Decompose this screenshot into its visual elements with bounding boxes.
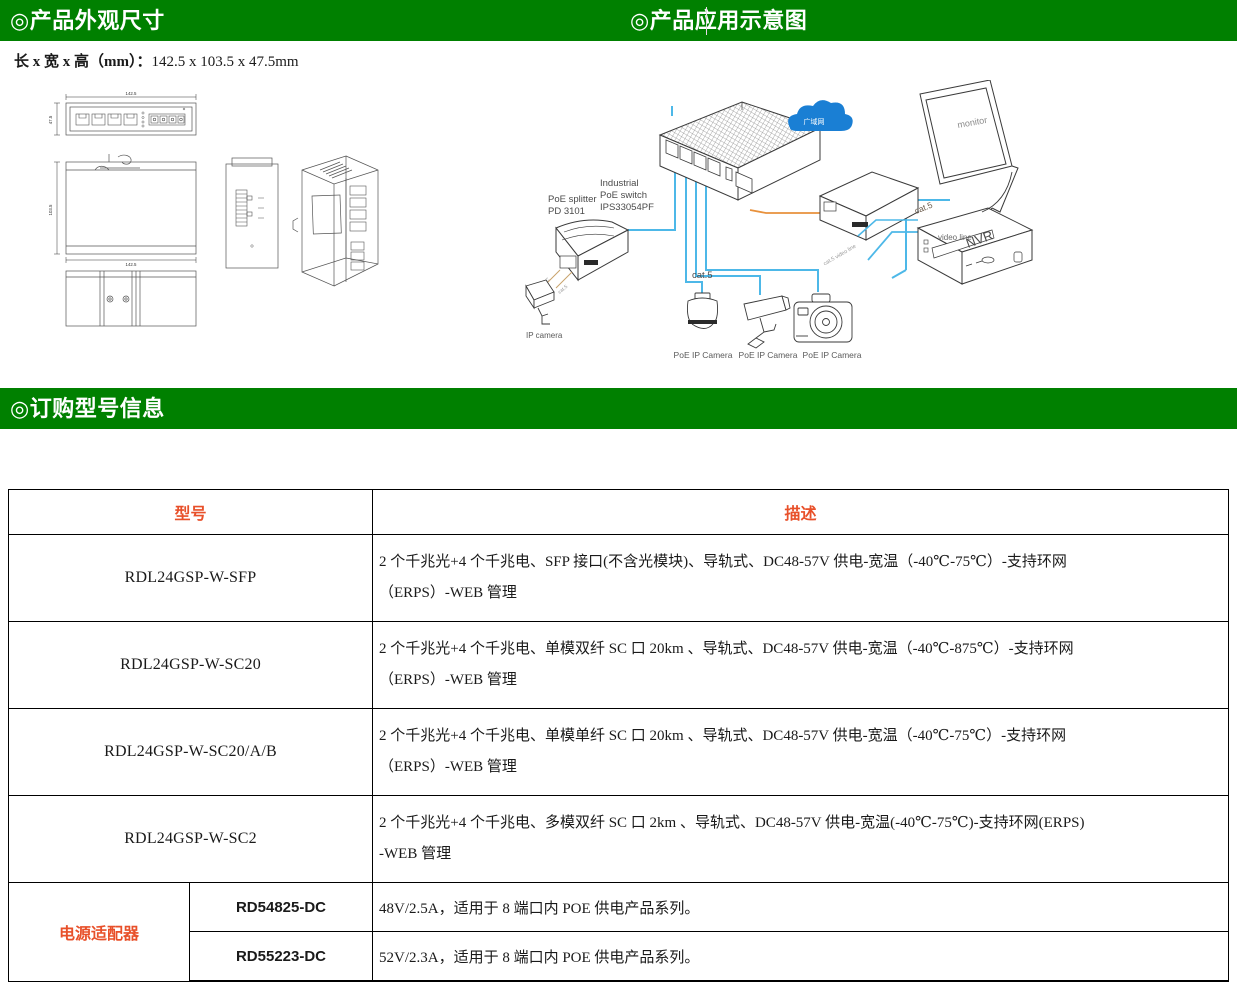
table-row: RDL24GSP-W-SC20/A/B 2 个千兆光+4 个千兆电、单模单纤 S…	[9, 709, 1229, 796]
drawing-dim-width: 142.5	[126, 91, 138, 96]
row-description-line1: 2 个千兆光+4 个千兆电、多模双纤 SC 口 2km 、导轨式、DC48-57…	[379, 808, 1222, 839]
camera-caption-1: PoE IP Camera	[674, 350, 733, 360]
adapter-description: 48V/2.5A，适用于 8 端口内 POE 供电产品系列。	[373, 883, 1229, 932]
row-description-line1: 2 个千兆光+4 个千兆电、单模双纤 SC 口 20km 、导轨式、DC48-5…	[379, 634, 1222, 665]
drawing-dim-bottom-width: 142.5	[126, 262, 138, 267]
row-description: 2 个千兆光+4 个千兆电、单模单纤 SC 口 20km 、导轨式、DC48-5…	[373, 709, 1229, 796]
row-description: 2 个千兆光+4 个千兆电、多模双纤 SC 口 2km 、导轨式、DC48-57…	[373, 796, 1229, 883]
row-description-line1: 2 个千兆光+4 个千兆电、SFP 接口(不含光模块)、导轨式、DC48-57V…	[379, 547, 1222, 578]
adapter-model: RD54825-DC	[190, 883, 373, 932]
header-model: 型号	[9, 490, 373, 535]
adapter-description: 52V/2.3A，适用于 8 端口内 POE 供电产品系列。	[373, 932, 1229, 982]
application-topology-diagram: Industrial PoE switch IPS33054PF 广域网 PoE…	[520, 80, 1220, 380]
adapter-group-label: 电源适配器	[9, 883, 190, 982]
table-header-row: 型号 描述	[9, 490, 1229, 535]
section-header-application: ◎产品应用示意图	[620, 0, 1237, 41]
table-row: RDL24GSP-W-SFP 2 个千兆光+4 个千兆电、SFP 接口(不含光模…	[9, 535, 1229, 622]
drawing-dim-height: 47.5	[48, 115, 53, 124]
row-model: RDL24GSP-W-SC20	[9, 622, 373, 709]
camera-caption-3: PoE IP Camera	[803, 350, 862, 360]
dimension-drawing-svg: 142.5 142.5 47.5 103.5	[40, 86, 400, 336]
product-dimension-drawings: 142.5 142.5 47.5 103.5	[40, 86, 400, 336]
wan-cloud-label: 广域网	[804, 117, 825, 126]
row-description-line2: （ERPS）-WEB 管理	[379, 752, 1222, 783]
video-line-label: video line	[938, 233, 972, 242]
section-header-order: ◎订购型号信息	[0, 388, 1237, 429]
switch-label-line3: IPS33054PF	[600, 202, 654, 213]
switch-label-line2: PoE switch	[600, 190, 647, 201]
dimension-spec-line: 长 x 宽 x 高（mm）：142.5 x 103.5 x 47.5mm	[14, 50, 299, 71]
table-row: RDL24GSP-W-SC2 2 个千兆光+4 个千兆电、多模双纤 SC 口 2…	[9, 796, 1229, 883]
row-description: 2 个千兆光+4 个千兆电、单模双纤 SC 口 20km 、导轨式、DC48-5…	[373, 622, 1229, 709]
section-header-dimensions: ◎产品外观尺寸	[0, 0, 620, 41]
row-model: RDL24GSP-W-SC2	[9, 796, 373, 883]
wan-cloud-icon: 广域网	[788, 100, 853, 131]
cat5-label-center: cat.5	[692, 270, 713, 281]
switch-label-line1: Industrial	[600, 178, 639, 189]
row-model: RDL24GSP-W-SC20/A/B	[9, 709, 373, 796]
adapter-model: RD55223-DC	[190, 932, 373, 982]
camera-caption-2: PoE IP Camera	[739, 350, 798, 360]
text-cursor	[706, 7, 707, 35]
splitter-label-line2: PD 3101	[548, 206, 585, 217]
drawing-dim-depth: 103.5	[48, 204, 53, 216]
ip-camera-label: IP camera	[526, 331, 563, 340]
row-description-line2: （ERPS）-WEB 管理	[379, 578, 1222, 609]
dimension-spec-value: 142.5 x 103.5 x 47.5mm	[152, 54, 299, 70]
svg-text:cat.5 video line: cat.5 video line	[823, 244, 858, 268]
table-row: RDL24GSP-W-SC20 2 个千兆光+4 个千兆电、单模双纤 SC 口 …	[9, 622, 1229, 709]
adapter-row: RD55223-DC 52V/2.3A，适用于 8 端口内 POE 供电产品系列…	[9, 932, 1229, 982]
order-model-table: 型号 描述 RDL24GSP-W-SFP 2 个千兆光+4 个千兆电、SFP 接…	[8, 489, 1229, 982]
application-diagram-svg: Industrial PoE switch IPS33054PF 广域网 PoE…	[520, 80, 1220, 380]
row-description: 2 个千兆光+4 个千兆电、SFP 接口(不含光模块)、导轨式、DC48-57V…	[373, 535, 1229, 622]
row-description-line1: 2 个千兆光+4 个千兆电、单模单纤 SC 口 20km 、导轨式、DC48-5…	[379, 721, 1222, 752]
section-header-order-label: ◎订购型号信息	[0, 396, 165, 421]
section-header-dimensions-label: ◎产品外观尺寸	[0, 8, 165, 33]
dimension-spec-label: 长 x 宽 x 高（mm）：	[14, 54, 152, 70]
row-description-line2: -WEB 管理	[379, 839, 1222, 870]
row-model: RDL24GSP-W-SFP	[9, 535, 373, 622]
row-description-line2: （ERPS）-WEB 管理	[379, 665, 1222, 696]
section-header-application-label: ◎产品应用示意图	[620, 8, 807, 33]
adapter-row: 电源适配器 RD54825-DC 48V/2.5A，适用于 8 端口内 POE …	[9, 883, 1229, 932]
splitter-label-line1: PoE splitter	[548, 194, 597, 205]
header-description: 描述	[373, 490, 1229, 535]
